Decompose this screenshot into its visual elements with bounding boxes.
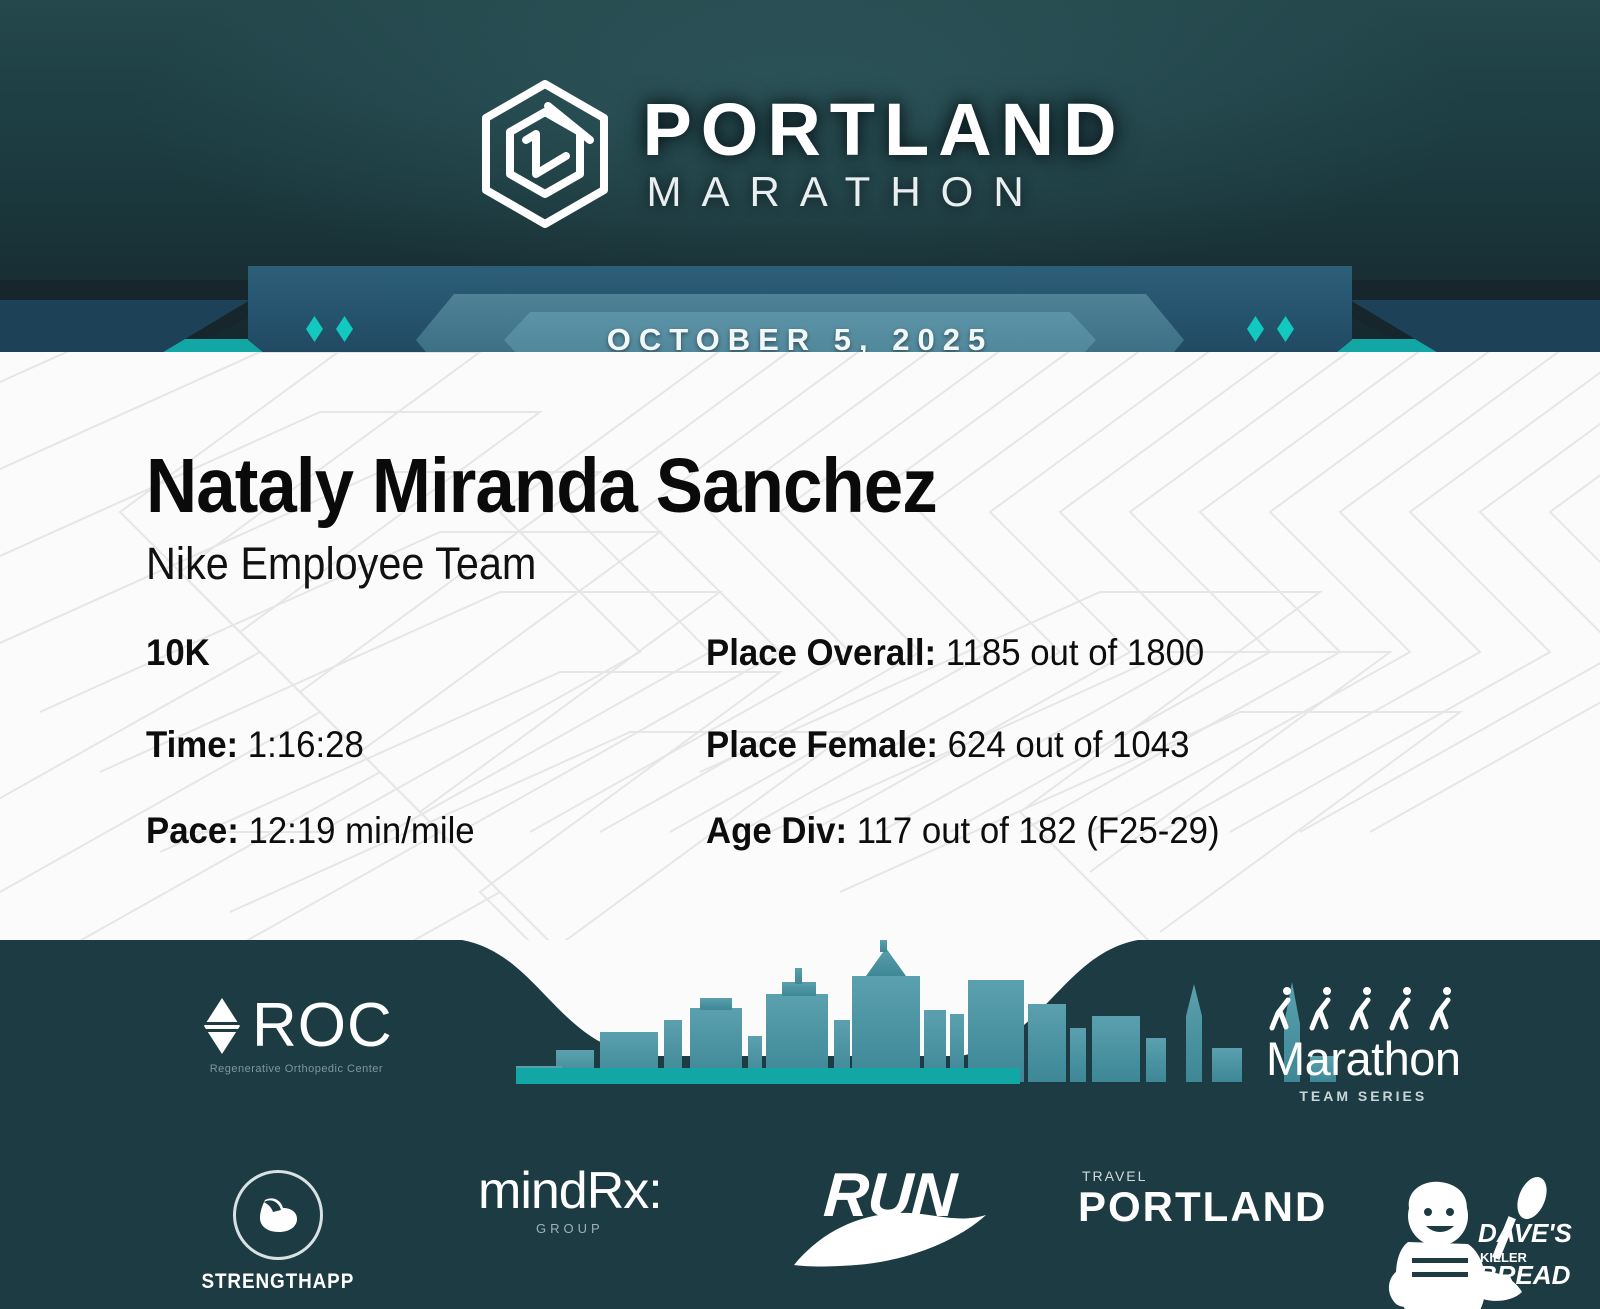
result-age-div-value: 117 out of 182 (F25-29)	[857, 810, 1220, 851]
runner-name: Nataly Miranda Sanchez	[146, 448, 937, 525]
sponsor-travel-portland: TRAVEL PORTLAND	[1078, 1168, 1327, 1228]
result-place-overall: Place Overall: 1185 out of 1800	[706, 634, 1204, 671]
sponsor-marathon-team-series: Marathon TEAM SERIES	[1266, 985, 1461, 1104]
nike-run-name: RUN	[822, 1165, 958, 1227]
travel-portland-subtitle: TRAVEL	[1082, 1168, 1147, 1184]
result-time: Time: 1:16:28	[146, 726, 364, 763]
travel-portland-name: PORTLAND	[1078, 1186, 1327, 1228]
race-result-certificate: PORTLAND MARATHON OCTOBER 5, 2025	[0, 0, 1600, 1309]
result-place-female: Place Female: 624 out of 1043	[706, 726, 1189, 763]
result-age-div: Age Div: 117 out of 182 (F25-29)	[706, 812, 1220, 849]
event-logo-primary: PORTLAND	[642, 93, 1125, 167]
result-time-value: 1:16:28	[248, 724, 364, 765]
result-distance: 10K	[146, 634, 210, 671]
diamond-accents-right	[1247, 316, 1294, 342]
dkb-mascot-icon: DAVE'S KILLER BREAD	[1382, 1172, 1572, 1309]
strengthapp-name: STRENGTHAPP	[201, 1270, 354, 1294]
result-age-div-label: Age Div:	[706, 810, 847, 851]
result-time-label: Time:	[146, 724, 238, 765]
svg-text:DAVE'S: DAVE'S	[1478, 1218, 1572, 1248]
result-place-female-value: 624 out of 1043	[948, 724, 1190, 765]
diamond-accents-left	[306, 316, 353, 342]
event-logo: PORTLAND MARATHON	[0, 78, 1600, 230]
event-logo-secondary: MARATHON	[646, 169, 1125, 215]
diamond-icon	[336, 316, 353, 342]
result-pace-value: 12:19 min/mile	[248, 810, 474, 851]
mindrx-subtitle: GROUP	[536, 1221, 604, 1236]
event-logo-text: PORTLAND MARATHON	[642, 93, 1125, 215]
portland-marathon-hex-icon	[474, 78, 616, 230]
roc-name: ROC	[252, 995, 393, 1057]
runner-team: Nike Employee Team	[146, 541, 536, 586]
result-place-female-label: Place Female:	[706, 724, 938, 765]
result-pace: Pace: 12:19 min/mile	[146, 812, 475, 849]
sponsor-daves-killer-bread: DAVE'S KILLER BREAD	[1382, 1172, 1572, 1309]
roc-diamond-icon	[200, 996, 244, 1056]
mts-subtitle: TEAM SERIES	[1299, 1088, 1427, 1104]
roc-tagline: Regenerative Orthopedic Center	[210, 1063, 383, 1075]
sponsor-strengthapp: STRENGTHAPP	[193, 1170, 363, 1294]
strengthapp-badge	[233, 1170, 323, 1260]
svg-text:BREAD: BREAD	[1478, 1260, 1571, 1290]
mts-name: Marathon	[1266, 1035, 1461, 1082]
mindrx-name: mindRx:	[478, 1165, 662, 1217]
result-pace-label: Pace:	[146, 810, 239, 851]
running-figures-icon	[1266, 985, 1460, 1031]
sponsor-mindrx: mindRx: GROUP	[478, 1165, 662, 1236]
skyline-teal-base	[516, 1068, 1020, 1084]
diamond-icon	[1247, 316, 1264, 342]
diamond-icon	[1277, 316, 1294, 342]
result-distance-value: 10K	[146, 632, 210, 673]
diamond-icon	[306, 316, 323, 342]
result-place-overall-label: Place Overall:	[706, 632, 936, 673]
roc-lockup: ROC	[200, 995, 393, 1057]
flexed-bicep-icon	[251, 1188, 305, 1242]
result-place-overall-value: 1185 out of 1800	[946, 632, 1205, 673]
sponsor-nike-run: RUN	[790, 1165, 990, 1271]
sponsor-roc: ROC Regenerative Orthopedic Center	[200, 995, 393, 1075]
